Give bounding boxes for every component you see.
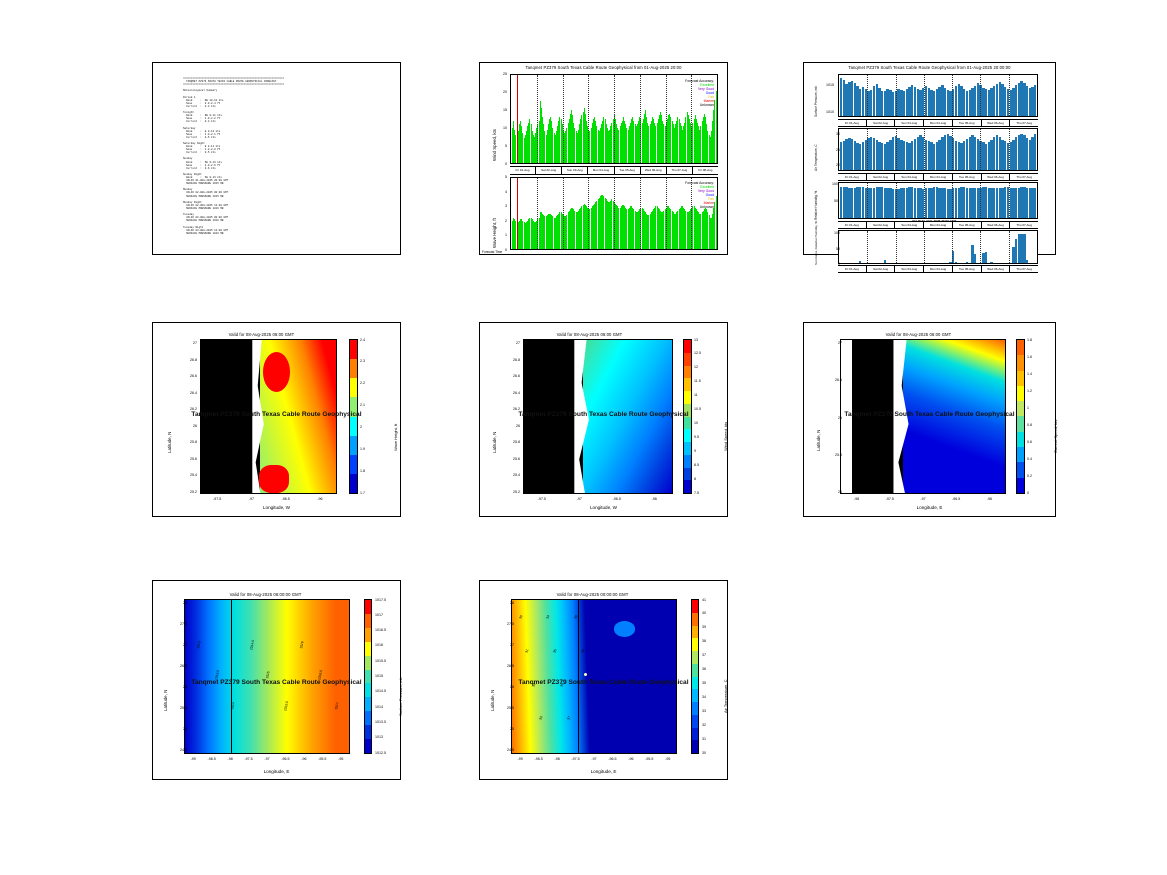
colorbar-band — [692, 664, 698, 677]
axis-tick: 27 — [167, 643, 187, 647]
colorbar-band — [692, 689, 698, 702]
colorbar-tick: 40 — [702, 611, 706, 615]
sun-glare-axes — [838, 230, 1038, 264]
day-gridline — [924, 183, 925, 218]
day-gridline — [952, 231, 953, 263]
contour-label: 1013.5 — [214, 670, 220, 681]
colorbar-band — [1017, 432, 1024, 447]
colorbar-band — [365, 739, 371, 753]
axis-tick: 1010 — [818, 110, 834, 114]
date-tick: Fri 01-Aug — [838, 266, 867, 272]
axis-tick: -95 — [656, 757, 680, 761]
contour-label: 34 — [545, 615, 550, 620]
pressure-map-xlabel: Longitude, E — [153, 769, 400, 774]
surface-pressure-axes — [838, 74, 1038, 117]
colorbar-band — [684, 480, 691, 493]
date-tick: Sat 02-Aug — [536, 167, 562, 174]
day-gridline — [537, 75, 538, 163]
colorbar-band — [1017, 340, 1024, 355]
axis-tick: 5 — [491, 144, 507, 148]
axis-tick: 0 — [824, 262, 840, 266]
axis-tick: 30 — [824, 132, 840, 136]
colorbar-band — [692, 600, 698, 613]
colorbar-band — [692, 702, 698, 715]
contour-label: 30 — [518, 615, 523, 620]
colorbar-band — [365, 656, 371, 670]
current-map-title: Valid for 08-Aug-2025 06:00 GMT — [782, 332, 1055, 337]
axis-tick: 1015 — [818, 83, 834, 87]
wave-map-title: Valid for 08-Aug-2025 06:00 GMT — [123, 332, 400, 337]
colorbar-band — [684, 378, 691, 391]
current-time-marker — [517, 178, 518, 249]
axis-tick: 26.8 — [177, 358, 197, 362]
timeseries-title: Tanqmet PZ379 South Texas Cable Route Ge… — [480, 65, 727, 70]
colorbar-tick: 1012.5 — [375, 751, 386, 755]
day-gridline — [952, 183, 953, 218]
relative-humidity-ylabel: Relative Humidity, % — [814, 191, 818, 220]
colorbar-tick: 8.5 — [694, 463, 699, 467]
colorbar-band — [684, 468, 691, 481]
colorbar-band — [684, 442, 691, 455]
panel-wind-speed-map: Valid for 08-Aug-2025 06:00 GMT Latitude… — [479, 322, 728, 517]
colorbar-tick: 7.5 — [694, 491, 699, 495]
colorbar-band — [684, 353, 691, 366]
colorbar-tick: 1013 — [375, 735, 383, 739]
panel-forecast-report: ========================================… — [152, 62, 401, 255]
bar-series — [839, 231, 1037, 263]
axis-tick: 26 — [822, 416, 842, 420]
axis-tick: 26.4 — [500, 391, 520, 395]
day-gridline — [952, 75, 953, 116]
colorbar-band — [365, 600, 371, 614]
colorbar-band — [350, 417, 357, 436]
colorbar-tick: 41 — [702, 598, 706, 602]
colorbar-tick: 36 — [702, 667, 706, 671]
day-gridline — [980, 183, 981, 218]
date-tick: Fri 01-Aug — [838, 174, 867, 180]
axis-tick: 25.6 — [500, 457, 520, 461]
colorbar-tick: 9 — [694, 449, 696, 453]
axis-tick: 100 — [824, 231, 840, 235]
axis-tick: 26.6 — [177, 374, 197, 378]
colorbar-tick: 1014 — [375, 705, 383, 709]
colorbar-tick: 2.1 — [360, 403, 365, 407]
axis-tick: 25 — [494, 727, 514, 731]
colorbar-tick: 11.5 — [694, 379, 701, 383]
relative-humidity-axes — [838, 182, 1038, 219]
bar — [1034, 134, 1036, 170]
colorbar-band — [692, 740, 698, 753]
axis-tick: 25.8 — [500, 440, 520, 444]
axis-tick: 25.5 — [167, 706, 187, 710]
colorbar-band — [684, 366, 691, 379]
landmass — [201, 340, 260, 493]
colorbar-band — [350, 436, 357, 455]
colorbar-band — [692, 638, 698, 651]
date-tick: Wed 06-Aug — [982, 222, 1011, 228]
date-tick: Mon 04-Aug — [924, 266, 953, 272]
axis-tick: 24.5 — [494, 748, 514, 752]
axis-tick: 27 — [494, 643, 514, 647]
air-temperature-axes — [838, 128, 1038, 171]
colorbar-band — [365, 697, 371, 711]
axis-tick: 26.2 — [500, 407, 520, 411]
axis-tick: 25.4 — [177, 473, 197, 477]
colorbar-band — [1017, 416, 1024, 431]
colorbar-tick: 10.5 — [694, 407, 701, 411]
axis-tick: 1 — [491, 233, 507, 237]
colorbar-band — [684, 417, 691, 430]
date-tick: Tue 05-Aug — [953, 266, 982, 272]
day-gridline — [563, 178, 564, 249]
bar — [985, 252, 987, 263]
colorbar-tick: 39 — [702, 625, 706, 629]
axis-tick: -96.5 — [274, 497, 298, 501]
axis-tick: 25 — [822, 490, 842, 494]
axis-tick: 25 — [491, 72, 507, 76]
colorbar-tick: 1.4 — [1027, 372, 1032, 376]
colorbar-tick: 0.8 — [1027, 423, 1032, 427]
axis-tick: 26.5 — [167, 664, 187, 668]
colorbar-tick: 1.7 — [360, 491, 365, 495]
date-tick: Mon 04-Aug — [588, 167, 614, 174]
day-gridline — [1009, 231, 1010, 263]
pressure-map-title: Valid for 08-Aug-2025 06:00:00 GMT — [131, 592, 400, 597]
date-tick: Fri 01-Aug — [510, 167, 536, 174]
axis-tick: 26 — [494, 685, 514, 689]
colorbar-tick: 12 — [694, 365, 698, 369]
date-tick: Mon 04-Aug — [924, 120, 953, 126]
panel-met-timeseries: Tanqmet PZ379 South Texas Cable Route Ge… — [803, 62, 1056, 255]
date-tick: Thu 07-Aug — [667, 167, 693, 174]
coastline — [231, 600, 258, 753]
axis-tick: 20 — [491, 90, 507, 94]
day-gridline — [588, 178, 589, 249]
airtemp-map-xlabel: Longitude, E — [480, 769, 727, 774]
axis-tick: 0 — [491, 162, 507, 166]
colorbar-tick: 37 — [702, 653, 706, 657]
panel-wind-wave-timeseries: Tanqmet PZ379 South Texas Cable Route Ge… — [479, 62, 728, 255]
axis-tick: -96.5 — [605, 497, 629, 501]
contour-label: 1016.5 — [318, 670, 324, 681]
colorbar-band — [1017, 462, 1024, 477]
colorbar-tick: 33 — [702, 709, 706, 713]
current-map-ylabel: Latitude, N — [816, 430, 821, 451]
colorbar-band — [692, 677, 698, 690]
colorbar-band — [1017, 386, 1024, 401]
colorbar-tick: 31 — [702, 737, 706, 741]
colorbar-tick: 1015.5 — [375, 659, 386, 663]
colorbar-tick: 1.9 — [360, 447, 365, 451]
colorbar-tick: 13 — [694, 338, 698, 342]
site-marker[interactable] — [584, 673, 587, 676]
day-gridline — [952, 129, 953, 170]
bar — [859, 261, 861, 263]
colorbar-tick: 2.4 — [360, 338, 365, 342]
bar — [990, 262, 992, 263]
wind-map-colorbar-label: Wind Speed, kts — [723, 422, 728, 451]
axis-tick: 26.4 — [177, 391, 197, 395]
axis-tick: 25.5 — [494, 706, 514, 710]
coastline — [555, 600, 579, 753]
date-tick: Fri 01-Aug — [838, 222, 867, 228]
wind-map-ylabel: Latitude, N — [492, 432, 497, 453]
forecast-accuracy-legend-wave: Forecast Accuracy:ExcellentVery GoodGood… — [630, 181, 714, 209]
day-gridline — [924, 129, 925, 170]
sun-glare-ylabel: Sun Glare, Relative Humidity, % — [814, 221, 818, 265]
colorbar-tick: 2.2 — [360, 381, 365, 385]
legend-item: Unknown — [630, 205, 714, 209]
date-tick: Thu 07-Aug — [1010, 120, 1038, 126]
date-tick: Tue 05-Aug — [615, 167, 641, 174]
day-gridline — [924, 231, 925, 263]
axis-tick: -96 — [977, 497, 1001, 501]
axis-tick: 50 — [822, 199, 838, 203]
day-gridline — [614, 178, 615, 249]
colorbar-band — [365, 711, 371, 725]
date-tick: Wed 06-Aug — [982, 174, 1011, 180]
map-margin — [841, 340, 852, 493]
axis-tick: 25 — [824, 148, 840, 152]
bar — [884, 260, 886, 263]
met-date-axis-2: Fri 01-AugSat 02-AugSun 03-AugMon 04-Aug… — [838, 173, 1038, 181]
axis-tick: 25.2 — [500, 490, 520, 494]
date-tick: Wed 06-Aug — [982, 266, 1011, 272]
bar — [1026, 260, 1028, 263]
axis-tick: -96.5 — [944, 497, 968, 501]
date-tick: Tue 05-Aug — [953, 222, 982, 228]
axis-tick: -97 — [911, 497, 935, 501]
colorbar-tick: 1.8 — [1027, 338, 1032, 342]
axis-tick: 27 — [177, 341, 197, 345]
colorbar-band — [1017, 355, 1024, 370]
bar — [716, 91, 717, 163]
colorbar-tick: 0.4 — [1027, 457, 1032, 461]
day-gridline — [896, 183, 897, 218]
date-tick: Tue 05-Aug — [953, 174, 982, 180]
day-gridline — [896, 75, 897, 116]
colorbar-band — [692, 613, 698, 626]
date-tick: Fri 08-Aug — [693, 167, 718, 174]
date-tick: Sun 03-Aug — [895, 120, 924, 126]
colorbar-tick: 30 — [702, 751, 706, 755]
axis-tick: 26.5 — [822, 378, 842, 382]
colorbar-tick: 1013.5 — [375, 720, 386, 724]
wind-map-title: Valid for 08-Aug-2025 06:00 GMT — [452, 332, 727, 337]
colorbar-tick: 10 — [694, 421, 698, 425]
contour-label: 31 — [525, 648, 530, 653]
date-tick: Sat 02-Aug — [867, 174, 896, 180]
colorbar-band — [1017, 478, 1024, 493]
axis-tick: 20 — [824, 163, 840, 167]
colorbar-band — [692, 728, 698, 741]
met-valid-annotation: VALID 01-AUG-2025 20:00 GMT — [912, 219, 956, 223]
contour-label: 39 — [580, 648, 585, 653]
colorbar-tick: 8 — [694, 477, 696, 481]
current-speed-map-canvas[interactable] — [840, 339, 1006, 494]
contour-label: 33 — [539, 716, 544, 721]
wave-height-map-canvas[interactable] — [200, 339, 337, 494]
axis-tick: 0 — [491, 248, 507, 252]
contour-label: 1016 — [299, 641, 304, 649]
current-time-marker — [517, 75, 518, 163]
bar-series — [839, 75, 1037, 116]
contour-label: 1015 — [265, 671, 270, 679]
colorbar-tick: 1016 — [375, 643, 383, 647]
colorbar-band — [1017, 401, 1024, 416]
axis-tick: 2 — [491, 219, 507, 223]
day-gridline — [1009, 183, 1010, 218]
timeseries-date-axis: Fri 01-AugSat 02-AugSun 03-AugMon 04-Aug… — [510, 166, 718, 175]
axis-tick: 26 — [167, 685, 187, 689]
axis-tick: 25.4 — [500, 473, 520, 477]
axis-tick: 24.5 — [167, 748, 187, 752]
day-gridline — [896, 231, 897, 263]
colorbar-band — [684, 391, 691, 404]
wind-map-xlabel: Longitude, W — [480, 505, 727, 510]
axis-tick: -97.5 — [530, 497, 554, 501]
colorbar-tick: 35 — [702, 681, 706, 685]
date-tick: Wed 06-Aug — [982, 120, 1011, 126]
met-timeseries-title: Tanqmet PZ379 South Texas Cable Route Ge… — [804, 65, 1055, 70]
colorbar-tick: 34 — [702, 695, 706, 699]
bar — [955, 262, 957, 263]
colorbar-band — [684, 404, 691, 417]
axis-tick: 25 — [167, 727, 187, 731]
bar — [1034, 188, 1036, 218]
bar — [716, 196, 717, 249]
colorbar-tick: 1017.5 — [375, 598, 386, 602]
warm-pocket — [614, 621, 635, 636]
pressure-map-colorbar-label: Surface Pressure, mb — [398, 677, 403, 716]
contour-label: 1013 — [196, 641, 201, 649]
surface-pressure-map-canvas[interactable]: 10131013.510141014.510151015.510161016.5… — [184, 599, 350, 754]
axis-tick: 27 — [822, 341, 842, 345]
date-tick: Thu 07-Aug — [1010, 266, 1038, 272]
axis-tick: 26.6 — [500, 374, 520, 378]
day-gridline — [537, 178, 538, 249]
axis-tick: 5 — [491, 175, 507, 179]
panel-wave-height-map: Valid for 08-Aug-2025 06:00 GMT Latitude… — [152, 322, 401, 517]
day-gridline — [980, 129, 981, 170]
axis-tick: 10 — [491, 126, 507, 130]
day-gridline — [614, 75, 615, 163]
colorbar-band — [1017, 371, 1024, 386]
colorbar-tick: 12.5 — [694, 351, 701, 355]
axis-tick: 28 — [167, 601, 187, 605]
forecast-report-text: ========================================… — [183, 77, 396, 250]
axis-tick: 26 — [500, 424, 520, 428]
colorbar-tick: 0.6 — [1027, 440, 1032, 444]
colorbar-band — [692, 626, 698, 639]
air-temperature-map-canvas[interactable]: 30313233343536373839 — [511, 599, 677, 754]
axis-tick: 25.8 — [177, 440, 197, 444]
met-date-axis-4: Fri 01-AugSat 02-AugSun 03-AugMon 04-Aug… — [838, 265, 1038, 273]
contour-label: 1015.5 — [283, 701, 289, 712]
colorbar-band — [350, 455, 357, 474]
colorbar-band — [365, 614, 371, 628]
day-gridline — [563, 75, 564, 163]
date-tick: Sat 02-Aug — [867, 222, 896, 228]
date-tick: Sun 03-Aug — [895, 266, 924, 272]
panel-surface-pressure-map: Valid for 08-Aug-2025 06:00:00 GMT 10131… — [152, 580, 401, 780]
axis-tick: 27 — [500, 341, 520, 345]
colorbar-band — [684, 340, 691, 353]
day-gridline — [867, 75, 868, 116]
axis-tick: 3 — [491, 204, 507, 208]
colorbar-tick: 0.2 — [1027, 474, 1032, 478]
wave-max-core-2 — [259, 465, 289, 493]
axis-tick: 28 — [494, 601, 514, 605]
day-gridline — [1009, 129, 1010, 170]
wave-map-ylabel: Latitude, N — [167, 432, 172, 453]
bar — [974, 254, 976, 263]
day-gridline — [867, 183, 868, 218]
panel-air-temperature-map: Valid for 08-Aug-2025 00:00:00 GMT 30313… — [479, 580, 728, 780]
wind-speed-map-canvas[interactable] — [523, 339, 673, 494]
colorbar-band — [350, 359, 357, 378]
date-tick: Sun 03-Aug — [562, 167, 588, 174]
day-gridline — [867, 129, 868, 170]
date-tick: Mon 04-Aug — [924, 174, 953, 180]
colorbar-band — [350, 378, 357, 397]
colorbar-band — [692, 715, 698, 728]
contour-label: 1017 — [334, 702, 339, 710]
colorbar-tick: 1.2 — [1027, 389, 1032, 393]
day-gridline — [867, 231, 868, 263]
axis-tick: 26.5 — [494, 664, 514, 668]
colorbar-tick: 9.5 — [694, 435, 699, 439]
day-gridline — [924, 75, 925, 116]
colorbar-tick: 1.6 — [1027, 355, 1032, 359]
current-map-colorbar — [1016, 339, 1025, 494]
date-tick: Thu 07-Aug — [1010, 222, 1038, 228]
bar — [966, 262, 968, 263]
forecast-accuracy-legend-wind: Forecast Accuracy:ExcellentVery GoodGood… — [630, 79, 714, 107]
bar-series — [839, 183, 1037, 218]
pressure-map-colorbar — [364, 599, 372, 754]
colorbar-tick: 11 — [694, 393, 698, 397]
colorbar-tick: 1017 — [375, 613, 383, 617]
axis-tick: 100 — [822, 182, 838, 186]
landmass — [524, 340, 583, 493]
colorbar-band — [365, 642, 371, 656]
axis-tick: -97.5 — [205, 497, 229, 501]
colorbar-tick: 2.3 — [360, 359, 365, 363]
colorbar-tick: 1 — [1027, 406, 1029, 410]
bar — [1034, 85, 1036, 116]
colorbar-band — [1017, 447, 1024, 462]
colorbar-band — [350, 340, 357, 359]
airtemp-map-colorbar-label: Air Temperature, C — [723, 680, 728, 714]
axis-tick: 27.5 — [494, 622, 514, 626]
colorbar-tick: 38 — [702, 639, 706, 643]
bar-series — [839, 129, 1037, 170]
axis-tick: -95 — [329, 757, 353, 761]
current-map-colorbar-label: Current Speed, kts — [1053, 420, 1058, 453]
wave-map-colorbar-label: Wave Height, ft — [393, 424, 398, 451]
axis-tick: 25.5 — [822, 453, 842, 457]
axis-tick: -98 — [845, 497, 869, 501]
air-temperature-ylabel: Air Temperature, C — [814, 144, 818, 171]
axis-tick: 25.2 — [177, 490, 197, 494]
axis-tick: 26.8 — [500, 358, 520, 362]
date-tick: Sat 02-Aug — [867, 266, 896, 272]
date-tick: Thu 07-Aug — [1010, 174, 1038, 180]
current-map-xlabel: Longitude, E — [804, 505, 1055, 510]
colorbar-tick: 32 — [702, 723, 706, 727]
colorbar-tick: 2 — [360, 425, 362, 429]
